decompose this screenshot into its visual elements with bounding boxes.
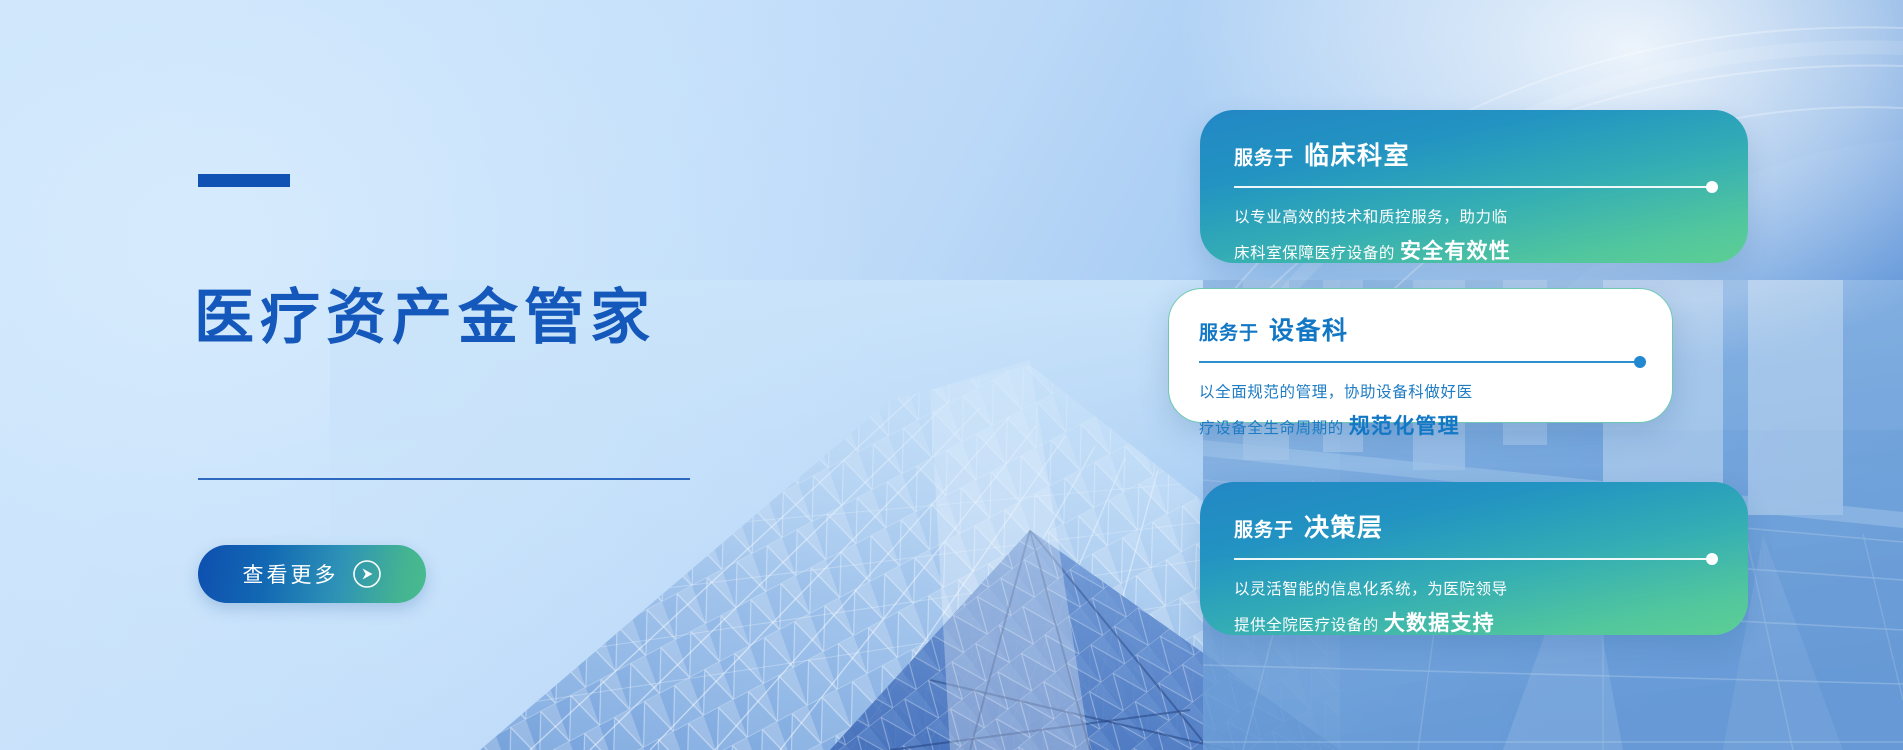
card-body-lead: 疗设备全生命周期的 <box>1199 420 1344 437</box>
card-heading-prefix: 服务于 <box>1199 318 1259 345</box>
hero-divider <box>198 478 690 480</box>
card-rule-line <box>1199 361 1635 363</box>
card-rule-line <box>1234 558 1707 560</box>
card-body-line-1: 以专业高效的技术和质控服务，助力临 <box>1234 204 1718 233</box>
card-rule-dot <box>1706 553 1718 565</box>
card-body-lead: 床科室保障医疗设备的 <box>1234 245 1395 262</box>
card-body-line-2: 提供全院医疗设备的 大数据支持 <box>1234 605 1718 644</box>
card-heading-main: 临床科室 <box>1304 136 1410 172</box>
card-progress-rule <box>1234 553 1718 565</box>
card-heading-main: 决策层 <box>1304 508 1384 544</box>
hero-left-column: 医疗资产金管家 查看更多 <box>198 0 878 750</box>
card-body-lead: 提供全院医疗设备的 <box>1234 617 1379 634</box>
card-body-strong: 大数据支持 <box>1384 612 1495 635</box>
feature-card-equipment-dept[interactable]: 服务于 设备科 以全面规范的管理，协助设备科做好医 疗设备全生命周期的 规范化管… <box>1168 288 1673 423</box>
card-body-line-2: 床科室保障医疗设备的 安全有效性 <box>1234 233 1718 272</box>
card-heading: 服务于 决策层 <box>1234 508 1718 544</box>
hero-banner: 医疗资产金管家 查看更多 服务于 临床科室 以专业 <box>0 0 1903 750</box>
card-body-line-1: 以全面规范的管理，协助设备科做好医 <box>1199 379 1646 408</box>
feature-card-clinical[interactable]: 服务于 临床科室 以专业高效的技术和质控服务，助力临 床科室保障医疗设备的 安全… <box>1200 110 1748 263</box>
card-body-line-1: 以灵活智能的信息化系统，为医院领导 <box>1234 576 1718 605</box>
card-heading-main: 设备科 <box>1269 311 1349 347</box>
accent-dash <box>198 174 290 187</box>
card-heading: 服务于 临床科室 <box>1234 136 1718 172</box>
page-title: 医疗资产金管家 <box>194 286 656 349</box>
card-body-line-2: 疗设备全生命周期的 规范化管理 <box>1199 408 1646 447</box>
card-progress-rule <box>1199 356 1646 368</box>
circle-arrow-right-icon <box>352 559 382 589</box>
card-body-strong: 安全有效性 <box>1400 240 1511 263</box>
card-heading-prefix: 服务于 <box>1234 515 1294 542</box>
view-more-button[interactable]: 查看更多 <box>198 545 426 603</box>
card-rule-line <box>1234 186 1707 188</box>
card-body: 以灵活智能的信息化系统，为医院领导 提供全院医疗设备的 大数据支持 <box>1234 576 1718 644</box>
card-body: 以全面规范的管理，协助设备科做好医 疗设备全生命周期的 规范化管理 <box>1199 379 1646 447</box>
card-body: 以专业高效的技术和质控服务，助力临 床科室保障医疗设备的 安全有效性 <box>1234 204 1718 272</box>
card-rule-dot <box>1706 181 1718 193</box>
card-heading: 服务于 设备科 <box>1199 311 1646 347</box>
feature-card-decision-layer[interactable]: 服务于 决策层 以灵活智能的信息化系统，为医院领导 提供全院医疗设备的 大数据支… <box>1200 482 1748 635</box>
card-heading-prefix: 服务于 <box>1234 143 1294 170</box>
card-body-strong: 规范化管理 <box>1349 415 1460 438</box>
card-progress-rule <box>1234 181 1718 193</box>
card-rule-dot <box>1634 356 1646 368</box>
view-more-label: 查看更多 <box>243 559 339 589</box>
